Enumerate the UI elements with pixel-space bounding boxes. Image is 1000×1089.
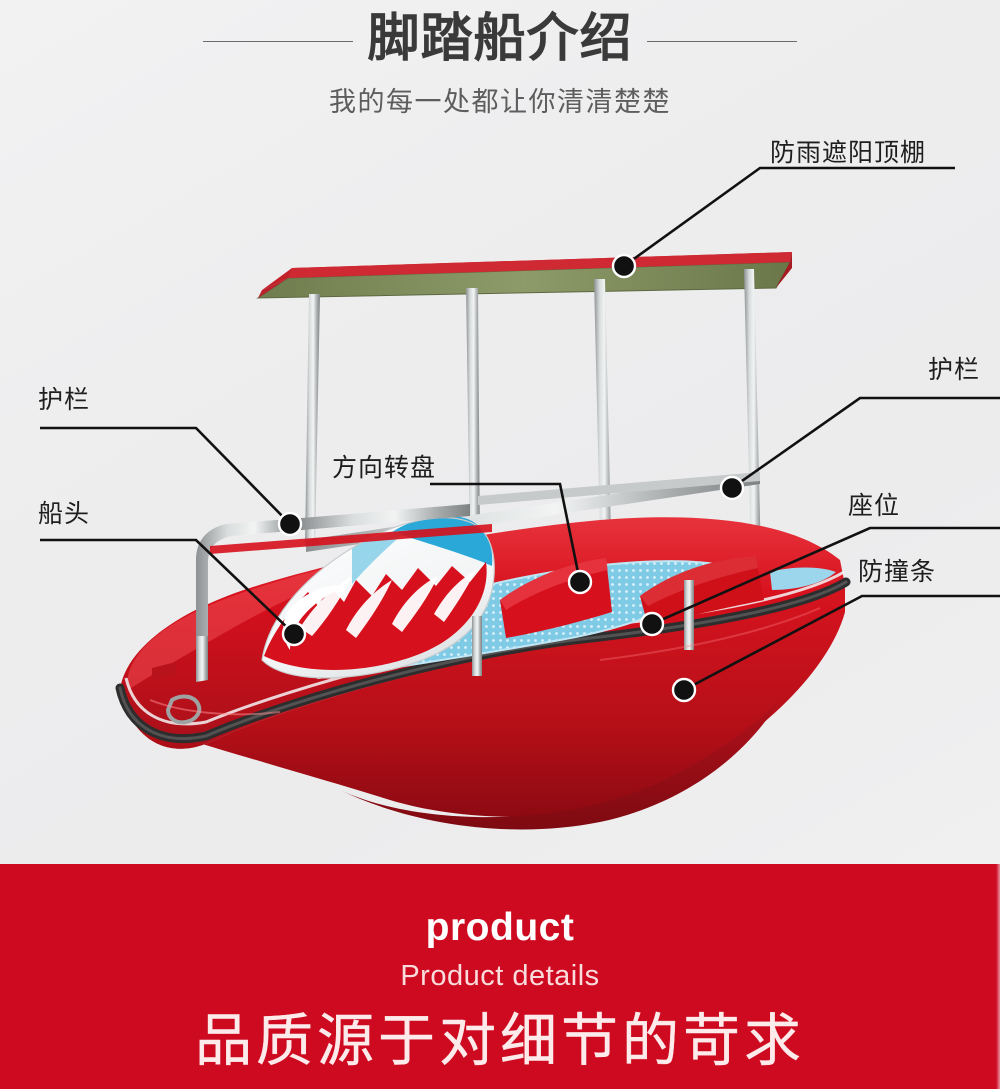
- callout-label-steering: 方向转盘: [332, 448, 436, 484]
- banner-title-cn: 品质源于对细节的苛求: [0, 1010, 1000, 1073]
- callout-label-bow: 船头: [38, 494, 90, 530]
- callout-label-rail-left: 护栏: [38, 380, 90, 416]
- canopy-roof: [258, 252, 792, 298]
- callout-label-seat: 座位: [848, 486, 900, 522]
- callout-label-rail-right: 护栏: [928, 350, 980, 386]
- pedal-boat-image: [0, 0, 1000, 864]
- banner-title-en: product: [0, 906, 1000, 950]
- product-intro-section: 脚踏船介绍 我的每一处都让你清清楚楚: [0, 0, 1000, 864]
- callout-label-canopy: 防雨遮阳顶棚: [770, 133, 926, 169]
- callout-label-bumper: 防撞条: [858, 552, 936, 588]
- banner-subtitle-en: Product details: [0, 960, 1000, 993]
- product-detail-page: 脚踏船介绍 我的每一处都让你清清楚楚: [0, 0, 1000, 1089]
